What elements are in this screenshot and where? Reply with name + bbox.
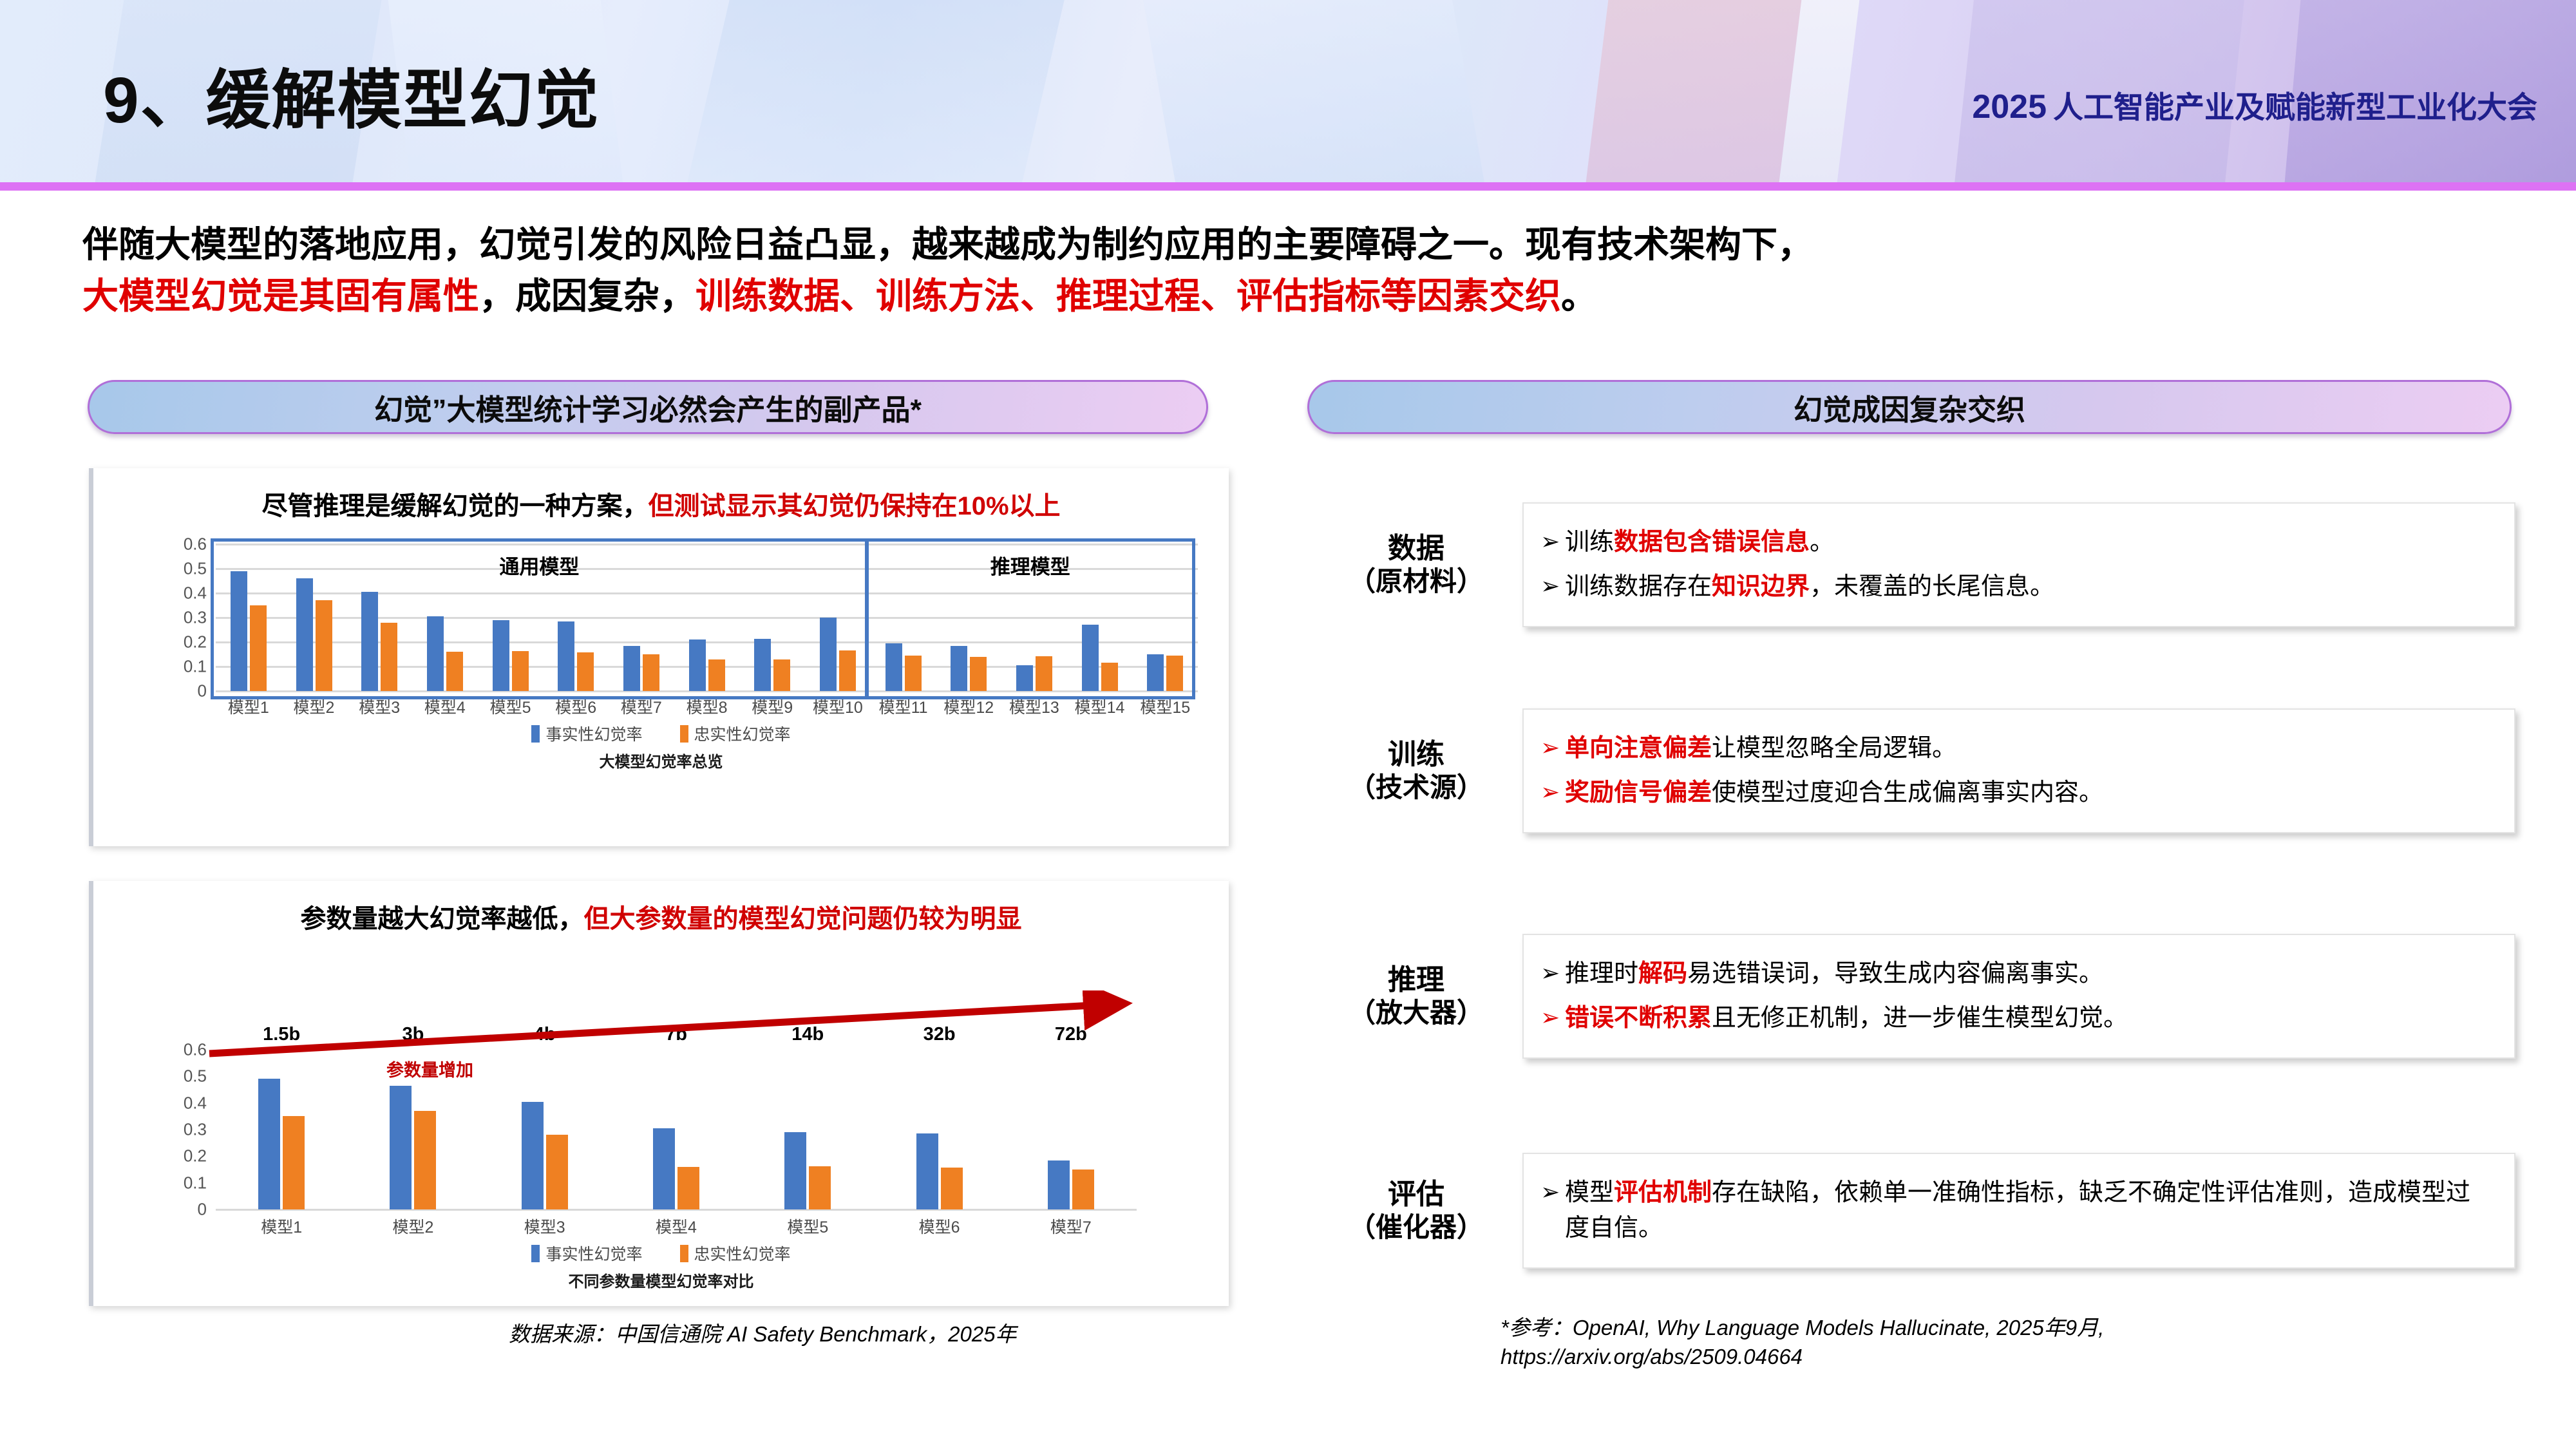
bar-group — [609, 544, 674, 691]
right-panel-title: 幻觉成因复杂交织 — [1794, 386, 2025, 428]
chart-bar — [1166, 656, 1183, 691]
chart-bar — [250, 605, 267, 691]
chart-bar — [970, 657, 987, 691]
cause-subtitle: （技术源） — [1310, 772, 1522, 804]
chart-y-tick-label: 0 — [198, 1200, 207, 1220]
chart1-legend: 事实性幻觉率忠实性幻觉率 — [93, 722, 1229, 745]
cause-bullet-text: 训练数据存在知识边界，未覆盖的长尾信息。 — [1565, 569, 2495, 605]
cause-highlight: 错误不断积累 — [1565, 1005, 1712, 1032]
chart-bar — [316, 600, 332, 691]
bar-group — [674, 544, 740, 691]
bar-group — [478, 544, 544, 691]
cause-highlight: 评估机制 — [1614, 1179, 1712, 1206]
legend-item: 忠实性幻觉率 — [680, 1242, 791, 1265]
chart2-x-axis-labels: 模型1模型2模型3模型4模型5模型6模型7 — [216, 1215, 1137, 1238]
cause-plain-text: 推理时 — [1565, 960, 1638, 987]
chart-x-tick-label: 模型8 — [674, 695, 740, 718]
chart-x-tick-label: 模型12 — [936, 695, 1001, 718]
cause-bullet: ➢模型评估机制存在缺陷，依赖单一准确性指标，缺乏不确定性评估准则，造成模型过度自… — [1540, 1171, 2495, 1251]
header-decoration-shape — [687, 0, 1064, 182]
bar-group — [871, 544, 936, 691]
bullet-arrow-icon: ➢ — [1540, 1001, 1565, 1034]
bullet-arrow-icon: ➢ — [1540, 956, 1565, 990]
intro-highlight-2: 训练数据、训练方法、推理过程、评估指标等因素交织 — [696, 276, 1561, 316]
chart-x-tick-label: 模型2 — [281, 695, 347, 718]
chart-bar — [623, 646, 640, 691]
chart-x-tick-label: 模型1 — [216, 695, 281, 718]
chart1-heading: 尽管推理是缓解幻觉的一种方案，但测试显示其幻觉仍保持在10%以上 — [93, 468, 1229, 522]
chart-bars-layer — [216, 1050, 1137, 1209]
chart-y-tick-label: 0.3 — [184, 608, 207, 628]
chart-x-tick-label: 模型7 — [1005, 1215, 1137, 1238]
chart-x-tick-label: 模型15 — [1132, 695, 1198, 718]
cause-highlight: 知识边界 — [1712, 573, 1810, 600]
chart-x-tick-label: 模型6 — [543, 695, 609, 718]
chart-y-tick-label: 0.2 — [184, 632, 207, 652]
cause-bullet-text: 错误不断积累且无修正机制，进一步催生模型幻觉。 — [1565, 1001, 2495, 1036]
chart-x-tick-label: 模型9 — [739, 695, 805, 718]
legend-swatch — [531, 725, 540, 743]
bar-group — [1005, 1050, 1137, 1209]
bar-group — [742, 1050, 873, 1209]
cause-bullet-text: 单向注意偏差让模型忽略全局逻辑。 — [1565, 731, 2495, 766]
chart-x-tick-label: 模型7 — [609, 695, 674, 718]
chart2-legend: 事实性幻觉率忠实性幻觉率 — [93, 1242, 1229, 1265]
chart-overview-plot: 00.10.20.30.40.50.6 — [216, 544, 1198, 691]
chart-bar — [296, 578, 313, 691]
chart-bar — [905, 656, 922, 691]
bullet-arrow-icon: ➢ — [1540, 731, 1565, 764]
legend-label: 忠实性幻觉率 — [694, 722, 791, 745]
cause-bullet-text: 训练数据包含错误信息。 — [1565, 525, 2495, 560]
left-panel-title: 幻觉”大模型统计学习必然会产生的副产品* — [374, 386, 922, 428]
bar-group — [543, 544, 609, 691]
legend-item: 事实性幻觉率 — [531, 722, 642, 745]
chart-bar — [951, 646, 967, 691]
cause-title: 推理 — [1310, 963, 1522, 997]
cause-title: 训练 — [1310, 738, 1522, 772]
cause-highlight: 单向注意偏差 — [1565, 735, 1712, 762]
cause-bullet-text: 推理时解码易选错误词，导致生成内容偏离事实。 — [1565, 956, 2495, 992]
cause-bullet: ➢错误不断积累且无修正机制，进一步催生模型幻觉。 — [1540, 996, 2495, 1041]
right-panel-header: 幻觉成因复杂交织 — [1307, 380, 2512, 434]
legend-item: 忠实性幻觉率 — [680, 722, 791, 745]
intro-line2-black: ，成因复杂， — [479, 276, 696, 316]
chart1-title: 大模型幻觉率总览 — [93, 749, 1229, 772]
chart-y-tick-label: 0.1 — [184, 1173, 207, 1193]
chart-x-tick-label: 模型3 — [346, 695, 412, 718]
intro-paragraph: 伴随大模型的落地应用，幻觉引发的风险日益凸显，越来越成为制约应用的主要障碍之一。… — [82, 219, 2523, 321]
chart-y-tick-label: 0.6 — [184, 535, 207, 554]
cause-highlight: 奖励信号偏差 — [1565, 779, 1712, 806]
chart-bar — [1101, 663, 1118, 691]
chart-bar — [839, 650, 856, 691]
chart-bar — [522, 1102, 544, 1209]
chart-bar — [361, 592, 378, 691]
cause-label: 训练（技术源） — [1310, 738, 1522, 803]
chart-bar — [258, 1079, 280, 1209]
legend-swatch — [680, 725, 688, 743]
chart-bars-layer — [216, 544, 1198, 691]
chart2-title: 不同参数量模型幻觉率对比 — [93, 1269, 1229, 1291]
legend-label: 事实性幻觉率 — [545, 1242, 642, 1265]
bar-group — [412, 544, 478, 691]
chart-bar — [427, 616, 444, 691]
chart-bar — [916, 1133, 938, 1209]
header-decoration-shape — [1143, 0, 1484, 182]
bar-group — [347, 1050, 478, 1209]
chart-bar — [283, 1116, 305, 1209]
chart2-heading-black: 参数量越大幻觉率越低， — [301, 905, 584, 933]
bullet-arrow-icon: ➢ — [1540, 525, 1565, 558]
cause-title: 评估 — [1310, 1178, 1522, 1211]
chart-bar — [512, 651, 529, 691]
bullet-arrow-icon: ➢ — [1540, 569, 1565, 603]
bar-group — [1067, 544, 1133, 691]
cause-plain-text: ，未覆盖的长尾信息。 — [1810, 573, 2054, 600]
chart-x-tick-label: 模型2 — [347, 1215, 478, 1238]
legend-swatch — [680, 1245, 688, 1262]
chart-bar — [1072, 1170, 1094, 1209]
bullet-arrow-icon: ➢ — [1540, 775, 1565, 809]
cause-row: 训练（技术源）➢单向注意偏差让模型忽略全局逻辑。➢奖励信号偏差使模型过度迎合生成… — [1310, 708, 2515, 833]
chart-x-tick-label: 模型11 — [871, 695, 936, 718]
chart-bar — [773, 659, 790, 691]
chart1-heading-red: 但测试显示其幻觉仍保持在10%以上 — [648, 492, 1060, 520]
bullet-arrow-icon: ➢ — [1540, 1175, 1565, 1209]
bar-group — [281, 544, 347, 691]
chart-bar — [689, 639, 706, 691]
chart-x-tick-label: 模型14 — [1067, 695, 1133, 718]
chart-card-parameter-scale: 参数量越大幻觉率越低，但大参数量的模型幻觉问题仍较为明显 1.5b3b4b7b1… — [89, 881, 1229, 1306]
cause-plain-text: 模型 — [1565, 1179, 1614, 1206]
bar-group — [805, 544, 871, 691]
cause-plain-text: 。 — [1810, 529, 1834, 556]
legend-label: 事实性幻觉率 — [545, 722, 642, 745]
conference-title: 2025人工智能产业及赋能新型工业化大会 — [1972, 82, 2537, 127]
chart-card-overview: 尽管推理是缓解幻觉的一种方案，但测试显示其幻觉仍保持在10%以上 00.10.2… — [89, 468, 1229, 846]
chart-y-tick-label: 0.5 — [184, 559, 207, 579]
header-divider — [0, 182, 2576, 191]
cause-bullet: ➢奖励信号偏差使模型过度迎合生成偏离事实内容。 — [1540, 771, 2495, 815]
chart-y-tick-label: 0 — [198, 681, 207, 701]
bar-group — [346, 544, 412, 691]
chart-bar — [708, 659, 725, 691]
chart-bar — [820, 618, 837, 691]
cause-subtitle: （原材料） — [1310, 565, 1522, 598]
bar-group — [216, 544, 281, 691]
chart-bar — [1048, 1160, 1070, 1209]
chart-x-tick-label: 模型5 — [742, 1215, 873, 1238]
chart-bar — [1147, 654, 1164, 691]
chart-y-tick-label: 0.4 — [184, 583, 207, 603]
chart-x-tick-label: 模型13 — [1001, 695, 1067, 718]
legend-item: 事实性幻觉率 — [531, 1242, 642, 1265]
intro-line2-end: 。 — [1561, 276, 1597, 316]
conference-year: 2025 — [1972, 88, 2047, 126]
cause-bullet-text: 模型评估机制存在缺陷，依赖单一准确性指标，缺乏不确定性评估准则，造成模型过度自信… — [1565, 1175, 2495, 1246]
chart-bar — [1036, 656, 1052, 691]
left-source-note: 数据来源：中国信通院 AI Safety Benchmark，2025年 — [509, 1320, 1017, 1349]
chart-bar — [784, 1132, 806, 1209]
cause-box: ➢推理时解码易选错误词，导致生成内容偏离事实。➢错误不断积累且无修正机制，进一步… — [1522, 934, 2515, 1059]
chart-bar — [1082, 625, 1099, 691]
cause-plain-text: 使模型过度迎合生成偏离事实内容。 — [1712, 779, 2103, 806]
chart1-heading-black: 尽管推理是缓解幻觉的一种方案， — [261, 492, 648, 520]
page-title: 9、缓解模型幻觉 — [103, 48, 600, 141]
cause-title: 数据 — [1310, 532, 1522, 565]
chart1-x-axis-labels: 模型1模型2模型3模型4模型5模型6模型7模型8模型9模型10模型11模型12模… — [216, 695, 1198, 718]
cause-box: ➢单向注意偏差让模型忽略全局逻辑。➢奖励信号偏差使模型过度迎合生成偏离事实内容。 — [1522, 708, 2515, 833]
bar-group — [873, 1050, 1005, 1209]
chart-x-tick-label: 模型1 — [216, 1215, 347, 1238]
chart-bar — [677, 1167, 699, 1209]
chart-bar — [809, 1166, 831, 1209]
chart-y-tick-label: 0.3 — [184, 1120, 207, 1140]
cause-row: 推理（放大器）➢推理时解码易选错误词，导致生成内容偏离事实。➢错误不断积累且无修… — [1310, 934, 2515, 1059]
chart-bar — [754, 639, 771, 691]
cause-plain-text: 且无修正机制，进一步催生模型幻觉。 — [1712, 1005, 2128, 1032]
bar-group — [1132, 544, 1198, 691]
cause-row: 数据（原材料）➢训练数据包含错误信息。➢训练数据存在知识边界，未覆盖的长尾信息。 — [1310, 502, 2515, 627]
legend-swatch — [531, 1245, 540, 1262]
legend-label: 忠实性幻觉率 — [694, 1242, 791, 1265]
cause-box: ➢训练数据包含错误信息。➢训练数据存在知识边界，未覆盖的长尾信息。 — [1522, 502, 2515, 627]
chart-bar — [643, 654, 659, 691]
chart-bar — [885, 643, 902, 691]
bar-group — [216, 1050, 347, 1209]
cause-subtitle: （催化器） — [1310, 1211, 1522, 1244]
chart-y-tick-label: 0.1 — [184, 657, 207, 677]
chart-x-tick-label: 模型6 — [873, 1215, 1005, 1238]
cause-bullet-text: 奖励信号偏差使模型过度迎合生成偏离事实内容。 — [1565, 775, 2495, 811]
chart-x-tick-label: 模型4 — [611, 1215, 742, 1238]
intro-highlight-1: 大模型幻觉是其固有属性 — [82, 276, 479, 316]
cause-plain-text: 训练数据存在 — [1565, 573, 1712, 600]
conference-name: 人工智能产业及赋能新型工业化大会 — [2053, 90, 2537, 124]
chart-x-tick-label: 模型4 — [412, 695, 478, 718]
chart-bar — [493, 620, 509, 691]
cause-plain-text: 易选错误词，导致生成内容偏离事实。 — [1687, 960, 2103, 987]
footnote-line-1: *参考：OpenAI, Why Language Models Hallucin… — [1501, 1316, 2104, 1340]
chart2-heading: 参数量越大幻觉率越低，但大参数量的模型幻觉问题仍较为明显 — [93, 881, 1229, 935]
chart-bar — [446, 652, 463, 691]
chart-bar — [381, 623, 397, 691]
left-panel-header: 幻觉”大模型统计学习必然会产生的副产品* — [88, 380, 1208, 434]
bar-group — [1001, 544, 1067, 691]
chart-bar — [1016, 665, 1033, 691]
bar-group — [739, 544, 805, 691]
chart-bar — [558, 621, 574, 691]
chart-x-tick-label: 模型5 — [478, 695, 544, 718]
cause-box: ➢模型评估机制存在缺陷，依赖单一准确性指标，缺乏不确定性评估准则，造成模型过度自… — [1522, 1153, 2515, 1269]
chart2-heading-red: 但大参数量的模型幻觉问题仍较为明显 — [584, 905, 1022, 933]
chart-y-tick-label: 0.5 — [184, 1066, 207, 1086]
chart-bar — [231, 571, 247, 691]
chart-bar — [577, 652, 594, 691]
header-decoration-shape — [1586, 0, 1802, 182]
bar-group — [611, 1050, 742, 1209]
chart-bar — [546, 1135, 568, 1209]
cause-bullet: ➢训练数据存在知识边界，未覆盖的长尾信息。 — [1540, 565, 2495, 609]
chart-y-tick-label: 0.2 — [184, 1146, 207, 1166]
cause-label: 推理（放大器） — [1310, 963, 1522, 1028]
cause-label: 评估（催化器） — [1310, 1178, 1522, 1243]
cause-bullet: ➢训练数据包含错误信息。 — [1540, 520, 2495, 565]
chart-bar — [414, 1111, 436, 1209]
footnote-line-2: https://arxiv.org/abs/2509.04664 — [1501, 1345, 1803, 1368]
bar-group — [936, 544, 1001, 691]
chart-bar — [390, 1086, 412, 1209]
cause-plain-text: 让模型忽略全局逻辑。 — [1712, 735, 1956, 762]
right-footnote: *参考：OpenAI, Why Language Models Hallucin… — [1501, 1314, 2467, 1371]
chart-bar — [653, 1128, 675, 1209]
cause-highlight: 数据包含错误信息 — [1614, 529, 1810, 556]
chart-y-tick-label: 0.6 — [184, 1040, 207, 1060]
chart-x-tick-label: 模型3 — [479, 1215, 611, 1238]
cause-bullet: ➢单向注意偏差让模型忽略全局逻辑。 — [1540, 726, 2495, 771]
chart-y-tick-label: 0.4 — [184, 1093, 207, 1113]
cause-row: 评估（催化器）➢模型评估机制存在缺陷，依赖单一准确性指标，缺乏不确定性评估准则，… — [1310, 1153, 2515, 1269]
intro-line1: 伴随大模型的落地应用，幻觉引发的风险日益凸显，越来越成为制约应用的主要障碍之一。… — [82, 224, 1814, 265]
chart-x-tick-label: 模型10 — [805, 695, 871, 718]
cause-bullet: ➢推理时解码易选错误词，导致生成内容偏离事实。 — [1540, 952, 2495, 996]
cause-subtitle: （放大器） — [1310, 997, 1522, 1029]
cause-label: 数据（原材料） — [1310, 532, 1522, 597]
chart-bar — [941, 1168, 963, 1209]
bar-group — [479, 1050, 611, 1209]
chart-parameter-plot: 00.10.20.30.40.50.6 — [216, 1050, 1137, 1209]
cause-highlight: 解码 — [1638, 960, 1687, 987]
cause-plain-text: 训练 — [1565, 529, 1614, 556]
